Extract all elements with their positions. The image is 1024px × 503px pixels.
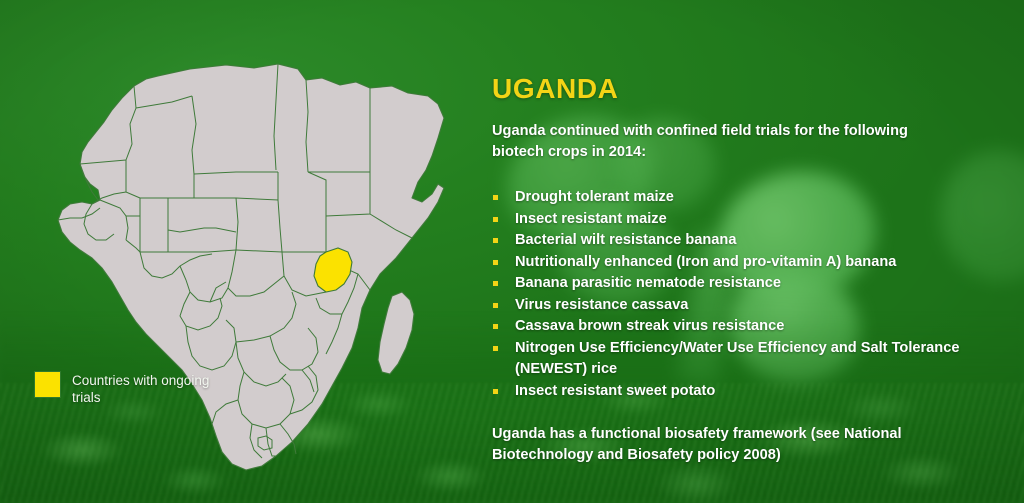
list-item: Drought tolerant maize <box>492 187 962 209</box>
list-item: Insect resistant sweet potato <box>492 381 962 403</box>
legend-label: Countries with ongoing trials <box>72 371 212 406</box>
list-item: Nutritionally enhanced (Iron and pro-vit… <box>492 252 962 274</box>
list-item: Virus resistance cassava <box>492 295 962 317</box>
biotech-crop-list: Drought tolerant maize Insect resistant … <box>492 187 962 402</box>
content-panel: UGANDA Uganda continued with confined fi… <box>492 74 962 466</box>
list-item: Cassava brown streak virus resistance <box>492 316 962 338</box>
intro-paragraph: Uganda continued with confined field tri… <box>492 121 932 163</box>
list-item: Nitrogen Use Efficiency/Water Use Effici… <box>492 338 962 381</box>
list-item: Banana parasitic nematode resistance <box>492 273 962 295</box>
legend-color-swatch <box>34 371 61 398</box>
africa-map-svg <box>40 52 470 492</box>
list-item: Bacterial wilt resistance banana <box>492 230 962 252</box>
map-landmass <box>58 64 444 470</box>
list-item: Insect resistant maize <box>492 209 962 231</box>
map-madagascar <box>378 292 414 374</box>
africa-map <box>40 52 470 492</box>
page-title: UGANDA <box>492 74 962 104</box>
closing-paragraph: Uganda has a functional biosafety framew… <box>492 424 932 466</box>
slide-root: Countries with ongoing trials UGANDA Uga… <box>0 0 1024 503</box>
map-legend: Countries with ongoing trials <box>34 371 212 406</box>
